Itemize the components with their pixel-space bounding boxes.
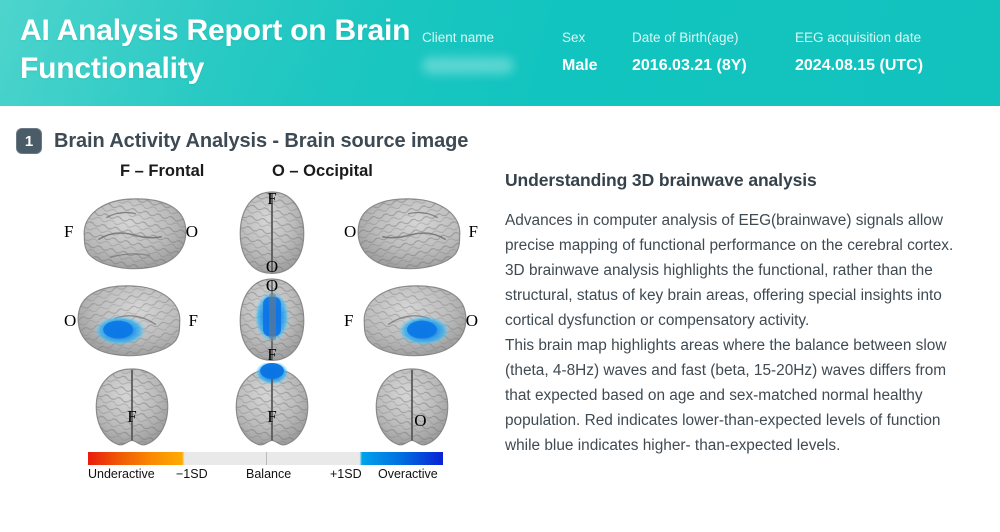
brain-cell-lateral-left-outer: F O bbox=[62, 188, 202, 275]
explanation-paragraph: This brain map highlights areas where th… bbox=[505, 334, 955, 459]
explanation-body: Advances in computer analysis of EEG(bra… bbox=[505, 209, 955, 459]
brain-lateral-icon bbox=[62, 188, 202, 275]
meta-value-date-of-birth: 2016.03.21 (8Y) bbox=[632, 57, 747, 75]
report-page: AI Analysis Report on Brain Functionalit… bbox=[0, 0, 1000, 532]
meta-label-date-of-birth: Date of Birth(age) bbox=[632, 30, 747, 46]
orientation-label-o: O bbox=[344, 223, 356, 240]
page-title: AI Analysis Report on Brain Functionalit… bbox=[20, 12, 420, 89]
view-label-frontal: F – Frontal bbox=[120, 162, 204, 181]
orientation-label-f: F bbox=[267, 408, 276, 425]
meta-value-client-name bbox=[422, 57, 514, 74]
brain-source-image-panel: F – Frontal O – Occipital bbox=[62, 162, 482, 492]
meta-field-date-of-birth: Date of Birth(age) 2016.03.21 (8Y) bbox=[632, 30, 747, 75]
brain-cell-coronal-mid: F bbox=[202, 363, 342, 450]
explanation-panel: Understanding 3D brainwave analysis Adva… bbox=[505, 170, 955, 459]
orientation-label-f: F bbox=[189, 312, 198, 329]
explanation-title: Understanding 3D brainwave analysis bbox=[505, 170, 955, 191]
brain-cell-axial-inferior: O F bbox=[202, 275, 342, 362]
orientation-label-o: O bbox=[64, 312, 76, 329]
meta-label-client-name: Client name bbox=[422, 30, 514, 46]
brain-cell-medial-right: F O bbox=[342, 275, 482, 362]
brain-cell-coronal-anterior: F bbox=[62, 363, 202, 450]
orientation-label-o: O bbox=[186, 223, 198, 240]
brain-cell-coronal-posterior: O bbox=[342, 363, 482, 450]
brain-cell-medial-left: O F bbox=[62, 275, 202, 362]
orientation-label-f: F bbox=[127, 408, 136, 425]
scale-label-balance: Balance bbox=[246, 467, 291, 481]
orientation-label-f: F bbox=[344, 312, 353, 329]
orientation-label-f: F bbox=[64, 223, 73, 240]
color-scale-bar bbox=[88, 452, 443, 465]
explanation-paragraph: Advances in computer analysis of EEG(bra… bbox=[505, 209, 955, 334]
scale-label-plus-1sd: +1SD bbox=[330, 467, 362, 481]
meta-label-eeg-acquisition-date: EEG acquisition date bbox=[795, 30, 923, 46]
color-scale-labels: Underactive −1SD Balance +1SD Overactive bbox=[88, 467, 443, 485]
section-number-badge: 1 bbox=[16, 128, 42, 154]
brain-image-grid: F O F O bbox=[62, 188, 482, 450]
meta-value-eeg-acquisition-date: 2024.08.15 (UTC) bbox=[795, 57, 923, 75]
brain-medial-icon bbox=[342, 275, 482, 362]
orientation-label-o: O bbox=[414, 412, 426, 429]
brain-view-labels: F – Frontal O – Occipital bbox=[62, 162, 482, 188]
meta-field-client-name: Client name bbox=[422, 30, 514, 74]
brain-medial-icon bbox=[62, 275, 202, 362]
scale-label-underactive: Underactive bbox=[88, 467, 155, 481]
scale-label-overactive: Overactive bbox=[378, 467, 438, 481]
scale-label-minus-1sd: −1SD bbox=[176, 467, 208, 481]
brain-cell-lateral-right-outer: O F bbox=[342, 188, 482, 275]
activity-color-scale: Underactive −1SD Balance +1SD Overactive bbox=[88, 452, 443, 485]
orientation-label-f: F bbox=[469, 223, 478, 240]
orientation-label-f: F bbox=[267, 346, 276, 363]
section-title: Brain Activity Analysis - Brain source i… bbox=[54, 130, 468, 153]
orientation-label-o: O bbox=[266, 277, 278, 294]
brain-lateral-icon bbox=[342, 188, 482, 275]
orientation-label-f: F bbox=[267, 190, 276, 207]
report-header: AI Analysis Report on Brain Functionalit… bbox=[0, 0, 1000, 106]
meta-label-sex: Sex bbox=[562, 30, 598, 46]
orientation-label-o: O bbox=[266, 258, 278, 275]
meta-field-eeg-acquisition-date: EEG acquisition date 2024.08.15 (UTC) bbox=[795, 30, 923, 75]
meta-value-sex: Male bbox=[562, 57, 598, 75]
meta-field-sex: Sex Male bbox=[562, 30, 598, 75]
view-label-occipital: O – Occipital bbox=[272, 162, 373, 181]
orientation-label-o: O bbox=[466, 312, 478, 329]
brain-cell-axial-superior: F O bbox=[202, 188, 342, 275]
section-header: 1 Brain Activity Analysis - Brain source… bbox=[16, 128, 468, 154]
brain-coronal-icon bbox=[342, 363, 482, 450]
